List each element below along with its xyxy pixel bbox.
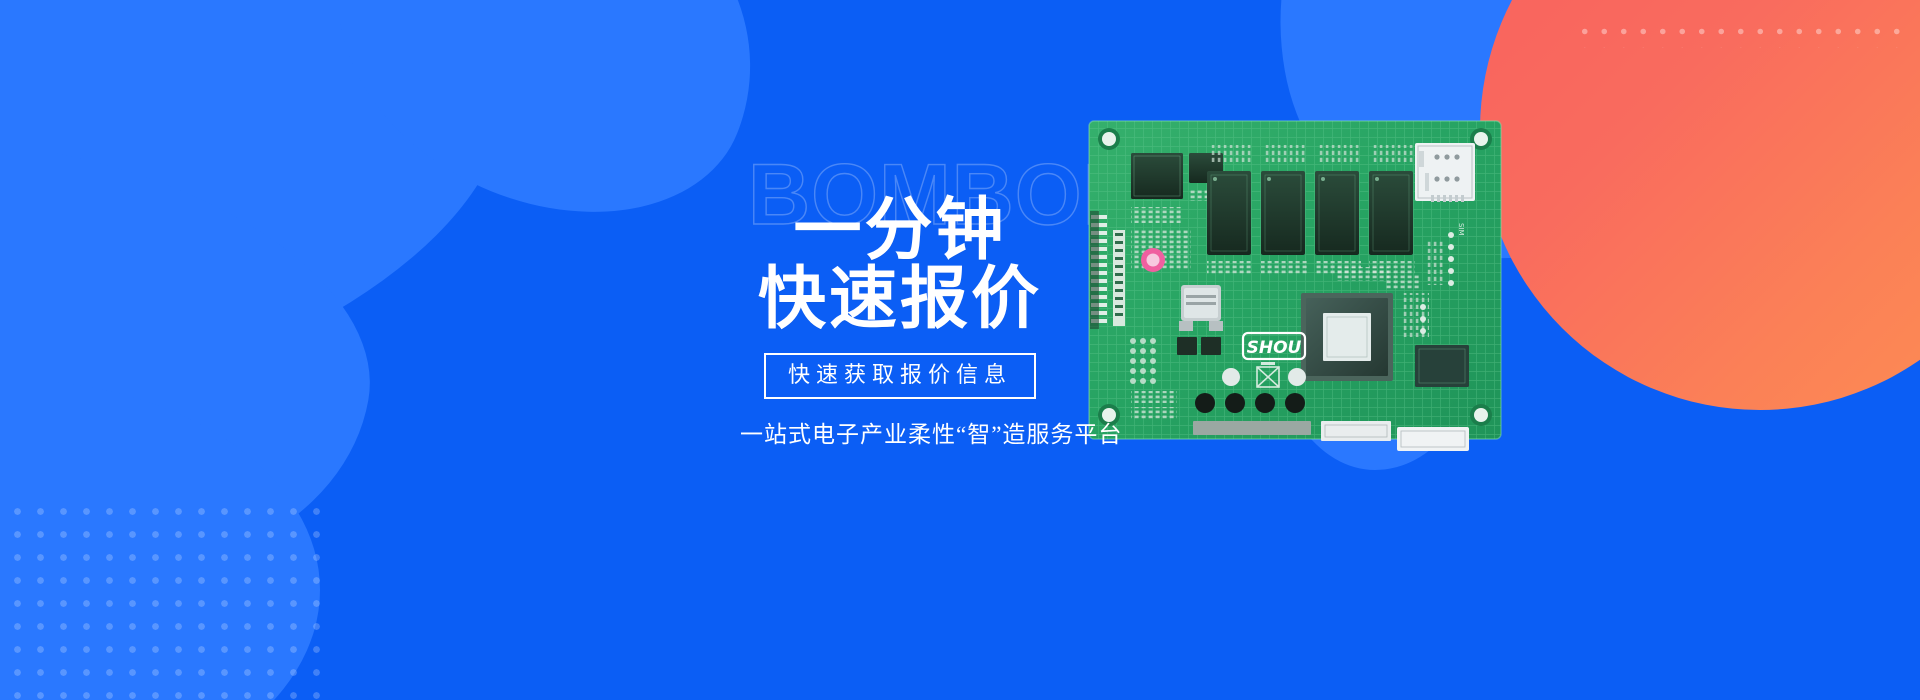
headline-line-1: 一分钟	[740, 196, 1060, 265]
banner-text-block: 一分钟 快速报价 快速获取报价信息 一站式电子产业柔性“智”造服务平台	[740, 196, 1060, 449]
subtitle-box[interactable]: 快速获取报价信息	[764, 353, 1036, 399]
pcb-circuit-board-image: SIM	[1085, 115, 1510, 455]
svg-text:SHOU: SHOU	[1247, 338, 1302, 358]
dot-grid-decoration-top-right	[1575, 22, 1905, 48]
promo-banner: BOMBOM	[0, 0, 1920, 700]
dot-grid-decoration-bottom-left	[6, 500, 336, 700]
coral-gradient-circle	[1480, 0, 1920, 410]
headline-line-2: 快速报价	[740, 265, 1060, 334]
svg-text:SIM: SIM	[1457, 223, 1465, 236]
tagline: 一站式电子产业柔性“智”造服务平台	[740, 415, 1060, 449]
